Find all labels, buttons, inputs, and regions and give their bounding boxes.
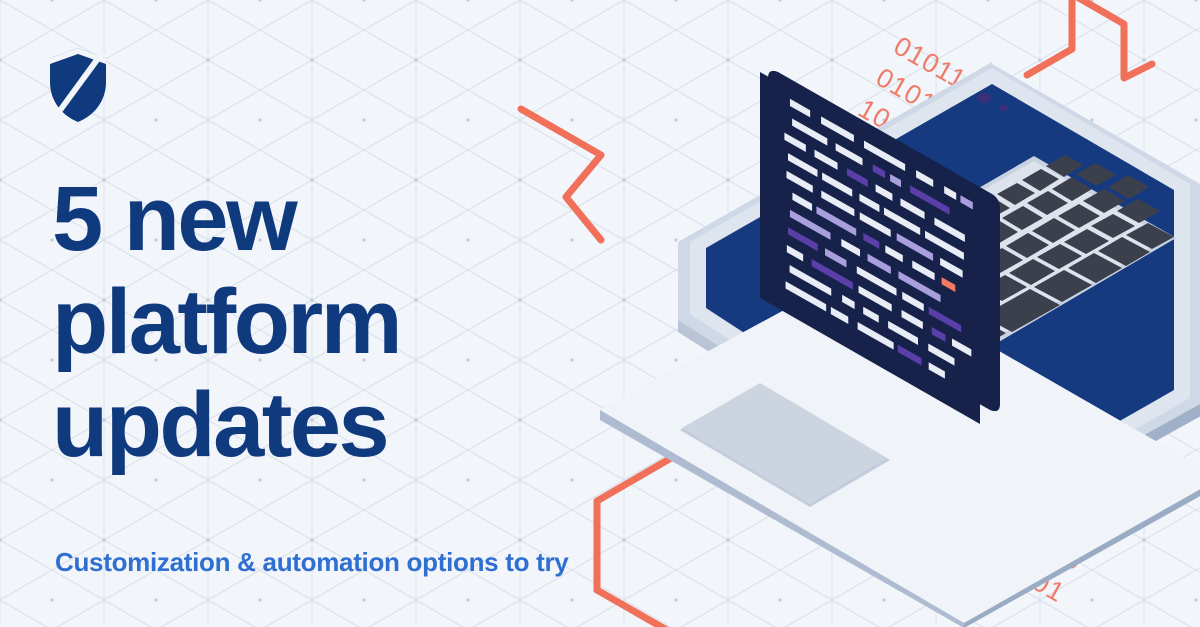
webcam-dot-main	[977, 93, 991, 103]
headline-line-2: platform	[52, 271, 572, 374]
shield-logo	[47, 46, 109, 124]
webcam-dot-small	[1000, 105, 1009, 111]
promo-banner: 5 new platform updates Customization & a…	[0, 0, 1200, 627]
headline: 5 new platform updates	[52, 168, 572, 477]
headline-line-1: 5 new	[52, 168, 572, 271]
laptop-illustration	[560, 0, 1200, 627]
headline-line-3: updates	[52, 374, 572, 477]
subtitle: Customization & automation options to tr…	[55, 547, 568, 578]
